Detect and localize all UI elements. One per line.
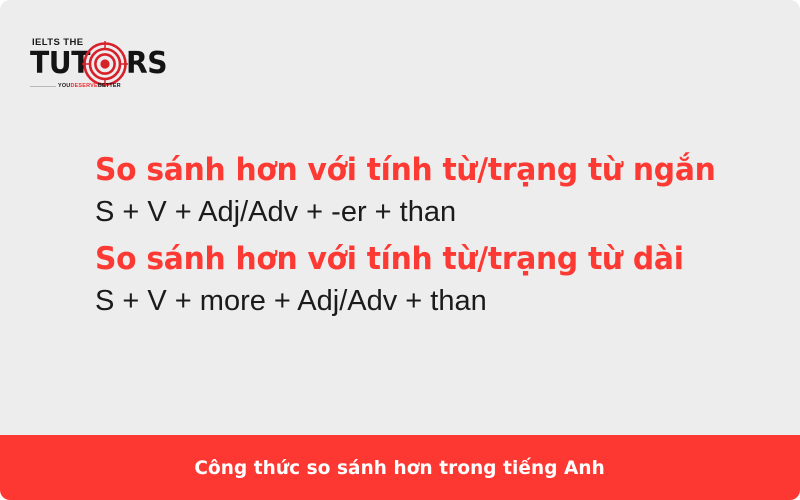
footer-bar: Công thức so sánh hơn trong tiếng Anh [0, 435, 800, 500]
logo-word-left: TUT [30, 49, 90, 79]
logo-wordmark: TUT RS [30, 49, 162, 79]
brand-logo[interactable]: IELTS THE TUT [30, 36, 162, 94]
heading-short-adjective: So sánh hơn với tính từ/trạng từ ngắn [95, 155, 729, 198]
heading-long-adjective: So sánh hơn với tính từ/trạng từ dài [95, 244, 729, 287]
logo-tagline-deserve: DESERVE [70, 83, 97, 89]
target-bullseye-icon [82, 41, 128, 87]
content-block: So sánh hơn với tính từ/trạng từ ngắn S … [95, 155, 755, 316]
logo-tagline-you: YOU [58, 83, 70, 89]
logo-tagline-better: BETTER [98, 83, 121, 89]
footer-title: Công thức so sánh hơn trong tiếng Anh [195, 457, 605, 479]
logo-tagline: YOUDESERVEBETTER [58, 82, 162, 91]
logo-word-right: RS [126, 49, 167, 79]
formula-short-adjective: S + V + Adj/Adv + -er + than [95, 198, 755, 244]
slide-canvas: IELTS THE TUT [0, 0, 800, 500]
formula-long-adjective: S + V + more + Adj/Adv + than [95, 287, 755, 316]
logo-tagline-rule [30, 86, 56, 87]
